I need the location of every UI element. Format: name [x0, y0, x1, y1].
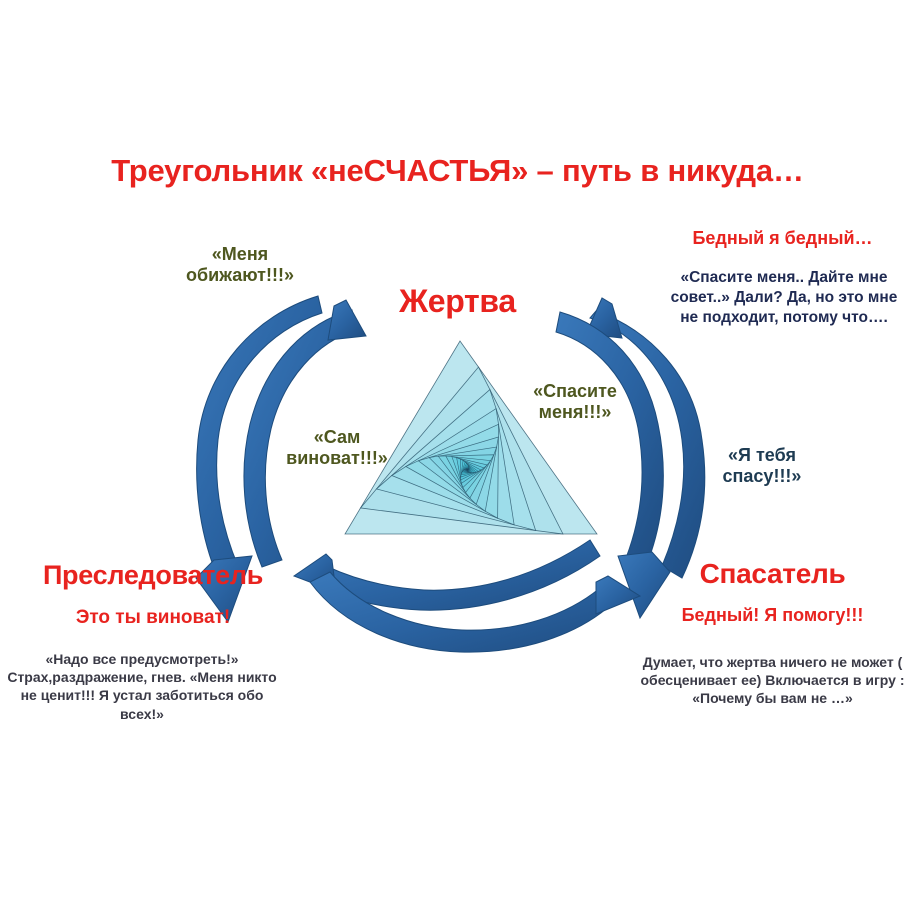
role-headline-victim: Бедный я бедный… [655, 228, 910, 249]
role-label-rescuer: Спасатель [630, 558, 915, 590]
quote-save-me: «Спасите меня!!!» [505, 381, 645, 423]
arrow-rescuer-to-persecutor [294, 540, 600, 610]
role-body-rescuer: Думает, что жертва ничего не может ( обе… [630, 653, 915, 708]
drama-triangle-diagram: Треугольник «неСЧАСТЬЯ» – путь в никуда…… [0, 0, 915, 915]
role-body-persecutor: «Надо все предусмотреть!» Страх,раздраже… [2, 650, 282, 723]
arrow-rescuer-to-victim [586, 298, 705, 578]
quote-you-are-to-blame: «Сам виноват!!!» [252, 427, 422, 469]
role-subtitle-rescuer: Бедный! Я помогу!!! [630, 605, 915, 626]
role-body-victim: «Спасите меня.. Дайте мне совет..» Дали?… [660, 268, 908, 327]
quote-i-will-save-you: «Я тебя спасу!!!» [692, 445, 832, 487]
quote-i-am-offended: «Меня обижают!!!» [150, 244, 330, 286]
role-subtitle-persecutor: Это ты виноват! [8, 607, 298, 629]
arrow-persecutor-to-rescuer [310, 572, 640, 652]
role-label-persecutor: Преследователь [8, 560, 298, 591]
page-title: Треугольник «неСЧАСТЬЯ» – путь в никуда… [0, 153, 915, 189]
